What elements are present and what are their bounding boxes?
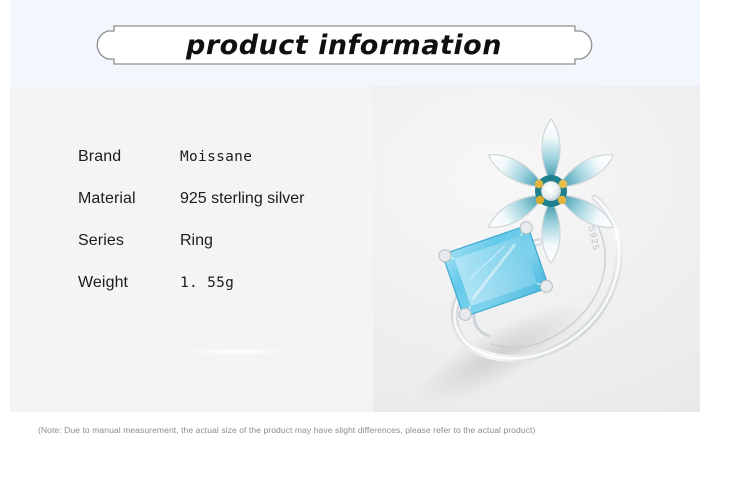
product-ring-image: S925	[373, 86, 700, 412]
specification-panel: Brand Moissane Material 925 sterling sil…	[10, 86, 373, 412]
spec-value-material: 925 sterling silver	[180, 190, 305, 208]
page-title: product information	[78, 24, 610, 66]
spec-value-weight: 1. 55g	[180, 275, 234, 291]
specification-table: Brand Moissane Material 925 sterling sil…	[78, 148, 363, 316]
table-row: Brand Moissane	[78, 148, 363, 190]
header-band: product information	[10, 0, 700, 86]
spec-label-material: Material	[78, 190, 180, 208]
table-row: Weight 1. 55g	[78, 274, 363, 316]
measurement-note: (Note: Due to manual measurement, the ac…	[38, 425, 718, 435]
spec-label-series: Series	[78, 232, 180, 250]
panel-highlight-smudge	[178, 348, 296, 355]
title-banner: product information	[78, 24, 610, 66]
table-row: Series Ring	[78, 232, 363, 274]
product-photo-panel: S925	[373, 86, 700, 412]
spec-label-weight: Weight	[78, 274, 180, 292]
spec-value-series: Ring	[180, 232, 213, 250]
table-row: Material 925 sterling silver	[78, 190, 363, 232]
body-area: Brand Moissane Material 925 sterling sil…	[10, 86, 700, 412]
spec-label-brand: Brand	[78, 148, 180, 166]
ring-shadow	[404, 286, 598, 412]
spec-value-brand: Moissane	[180, 149, 252, 165]
